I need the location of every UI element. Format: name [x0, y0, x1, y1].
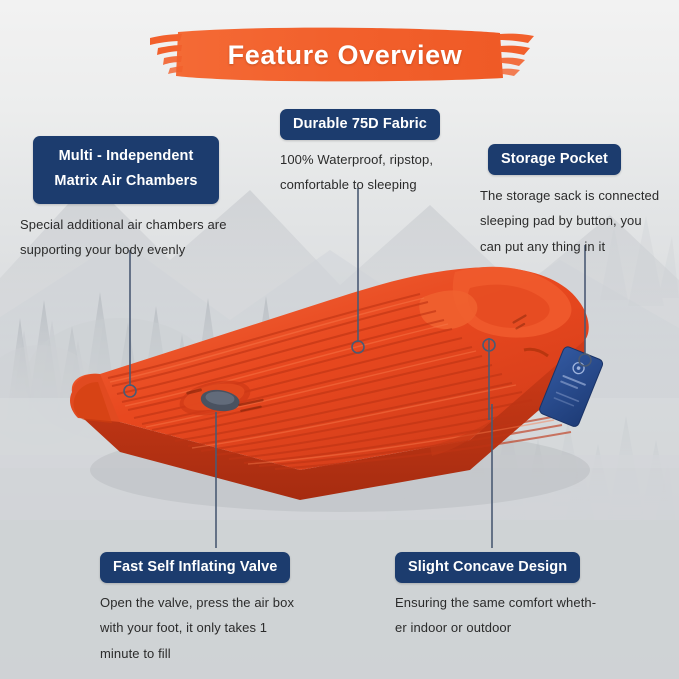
- callout-badge-multi-line1: Multi - Independent: [59, 148, 194, 164]
- page-title: Feature Overview: [150, 24, 540, 86]
- callout-desc-line: 100% Waterproof, ripstop,: [280, 147, 480, 172]
- callout-desc-line: Ensuring the same comfort wheth-: [395, 590, 605, 615]
- callout-badge-fabric[interactable]: Durable 75D Fabric: [280, 109, 440, 140]
- callout-desc-line: Open the valve, press the air box: [100, 590, 315, 615]
- callout-description-multi: Special additional air chambers are supp…: [20, 212, 232, 263]
- callout-storage-pocket: Storage Pocket The storage sack is conne…: [480, 144, 675, 259]
- callout-badge-valve[interactable]: Fast Self Inflating Valve: [100, 552, 290, 583]
- callout-badge-storage[interactable]: Storage Pocket: [488, 144, 621, 175]
- callout-desc-line: Special additional air chambers are: [20, 212, 232, 237]
- callout-durable-75d-fabric: Durable 75D Fabric 100% Waterproof, rips…: [280, 109, 480, 198]
- callout-description-valve: Open the valve, press the air box with y…: [100, 590, 315, 666]
- callout-multi-independent-matrix-air-chambers: Multi - Independent Matrix Air Chambers …: [20, 136, 232, 262]
- callout-desc-line: supporting your body evenly: [20, 237, 232, 262]
- infographic-canvas: Feature Overview Multi - Independent Mat…: [0, 0, 679, 679]
- callout-badge-multi[interactable]: Multi - Independent Matrix Air Chambers: [33, 136, 219, 204]
- callout-desc-line: The storage sack is connected: [480, 183, 675, 208]
- callout-desc-line: minute to fill: [100, 641, 315, 666]
- callout-fast-self-inflating-valve: Fast Self Inflating Valve Open the valve…: [100, 552, 315, 666]
- callout-slight-concave-design: Slight Concave Design Ensuring the same …: [395, 552, 605, 641]
- callout-desc-line: comfortable to sleeping: [280, 172, 480, 197]
- callout-description-storage: The storage sack is connected sleeping p…: [480, 183, 675, 259]
- callout-desc-line: can put any thing in it: [480, 234, 675, 259]
- callout-badge-concave[interactable]: Slight Concave Design: [395, 552, 580, 583]
- callout-badge-multi-line2: Matrix Air Chambers: [54, 173, 197, 189]
- callout-description-concave: Ensuring the same comfort wheth- er indo…: [395, 590, 605, 641]
- page-title-banner: Feature Overview: [150, 24, 540, 86]
- callout-desc-line: sleeping pad by button, you: [480, 208, 675, 233]
- callout-description-fabric: 100% Waterproof, ripstop, comfortable to…: [280, 147, 480, 198]
- callout-desc-line: with your foot, it only takes 1: [100, 615, 315, 640]
- callout-desc-line: er indoor or outdoor: [395, 615, 605, 640]
